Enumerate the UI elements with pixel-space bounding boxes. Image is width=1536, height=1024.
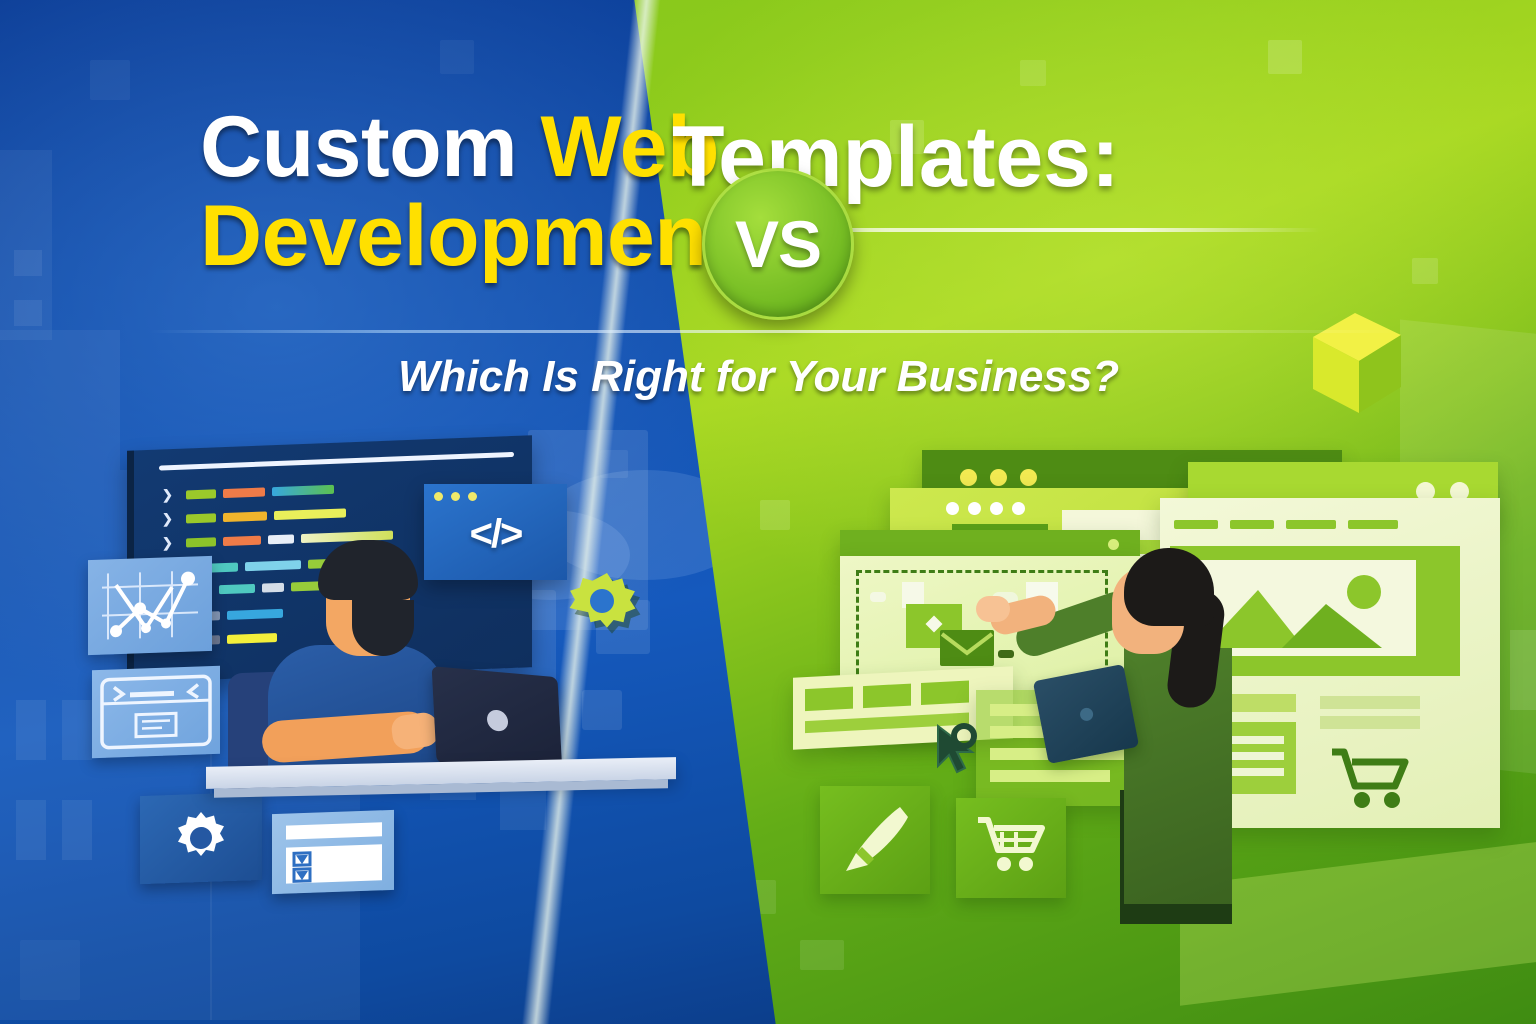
nav-item bbox=[1348, 520, 1398, 529]
building-window bbox=[14, 300, 42, 326]
code-window-icon: </> bbox=[424, 484, 567, 580]
chevron-right-icon: ❯ bbox=[162, 535, 173, 551]
analytics-chart-icon bbox=[88, 556, 212, 655]
code-line: ❯ bbox=[162, 481, 334, 504]
settings-gear-icon bbox=[140, 792, 262, 884]
window-dots bbox=[434, 492, 477, 501]
texture-square bbox=[760, 500, 790, 530]
window-dot bbox=[946, 502, 959, 515]
woman-hair bbox=[1124, 548, 1214, 626]
editor-title-bar bbox=[159, 452, 514, 471]
code-slug-label: </> bbox=[424, 512, 567, 557]
text-line bbox=[990, 770, 1110, 782]
vs-label: VS bbox=[735, 206, 821, 282]
texture-square bbox=[1020, 60, 1046, 86]
window-dot bbox=[1012, 502, 1025, 515]
terminal-window-icon bbox=[92, 666, 220, 758]
text-line bbox=[1320, 696, 1420, 709]
checklist-icon bbox=[272, 810, 394, 894]
vs-badge: VS bbox=[702, 168, 854, 320]
texture-square bbox=[90, 60, 130, 100]
text-line bbox=[1320, 716, 1420, 729]
building-window bbox=[16, 800, 46, 860]
window-dot bbox=[1020, 469, 1037, 486]
tablet-icon bbox=[1033, 664, 1139, 764]
building-window bbox=[500, 790, 546, 830]
placeholder-chip bbox=[870, 592, 886, 602]
window-dot bbox=[968, 502, 981, 515]
storefront-window bbox=[1510, 630, 1536, 710]
page-subtitle: Which Is Right for Your Business? bbox=[398, 352, 1119, 402]
building-window bbox=[62, 800, 92, 860]
texture-square bbox=[440, 40, 474, 74]
content-block bbox=[863, 684, 911, 709]
laptop-icon bbox=[432, 666, 563, 774]
building-window bbox=[62, 700, 92, 760]
nav-item bbox=[1230, 520, 1274, 529]
shopping-cart-icon bbox=[1328, 746, 1418, 817]
floating-pane bbox=[582, 690, 622, 730]
window-dot bbox=[960, 469, 977, 486]
window-dot bbox=[990, 502, 1003, 515]
content-block bbox=[921, 681, 969, 706]
nav-item bbox=[1286, 520, 1336, 529]
texture-square bbox=[20, 940, 80, 1000]
content-block bbox=[805, 687, 853, 712]
cursor-pointer-icon bbox=[930, 722, 988, 785]
texture-square bbox=[800, 940, 844, 970]
paintbrush-tile bbox=[820, 786, 930, 894]
nav-item bbox=[1174, 520, 1218, 529]
shopping-cart-tile bbox=[956, 798, 1066, 898]
title-separator bbox=[150, 330, 1400, 333]
building-window bbox=[14, 250, 42, 276]
chevron-right-icon: ❯ bbox=[162, 487, 173, 503]
code-line: ❯ bbox=[162, 504, 346, 527]
drag-drop-builder-window bbox=[840, 530, 1140, 558]
chevron-right-icon: ❯ bbox=[162, 511, 173, 527]
banner-image: ❯ ❯ ❯ ❯ bbox=[0, 0, 1536, 1024]
window-dot bbox=[990, 469, 1007, 486]
cube-icon bbox=[1305, 305, 1425, 430]
texture-square bbox=[1268, 40, 1302, 74]
title-word-custom: Custom bbox=[200, 99, 517, 195]
paintbrush-icon bbox=[838, 801, 912, 880]
envelope-icon bbox=[940, 630, 994, 671]
gear-icon bbox=[561, 567, 653, 664]
texture-square bbox=[1412, 258, 1438, 284]
woman-hand bbox=[976, 596, 1010, 622]
building-window bbox=[16, 700, 46, 760]
handle-icon[interactable] bbox=[998, 650, 1014, 658]
shopping-cart-icon bbox=[974, 814, 1048, 883]
window-dot bbox=[1108, 539, 1119, 550]
ground-highlight bbox=[1180, 834, 1536, 1006]
